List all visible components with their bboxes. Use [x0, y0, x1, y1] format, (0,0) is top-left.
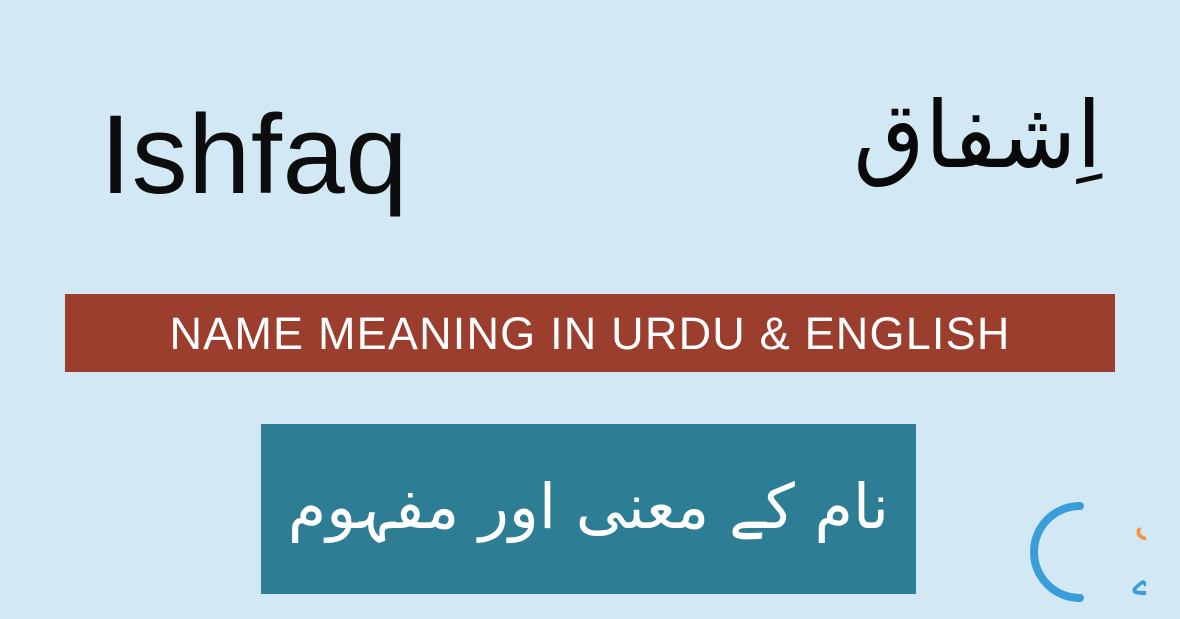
- red-banner-label: NAME MEANING IN URDU & ENGLISH: [169, 311, 1010, 356]
- graphic-canvas: Ishfaq اِشفاق NAME MEANING IN URDU & ENG…: [0, 0, 1180, 619]
- logo-word-top: ویب: [1134, 502, 1146, 550]
- teal-banner: نام کے معنی اور مفہوم: [261, 424, 916, 594]
- teal-banner-label: نام کے معنی اور مفہوم: [288, 468, 889, 546]
- logo-word-bottom: سہارے: [1132, 559, 1146, 605]
- red-banner: NAME MEANING IN URDU & ENGLISH: [65, 294, 1115, 372]
- brand-logo[interactable]: ویب سہارے: [1006, 492, 1146, 610]
- brand-logo-mark: ویب سہارے: [1006, 492, 1146, 610]
- logo-arc-icon: [1034, 506, 1080, 598]
- name-urdu: اِشفاق: [853, 74, 1102, 198]
- name-english: Ishfaq: [100, 96, 408, 214]
